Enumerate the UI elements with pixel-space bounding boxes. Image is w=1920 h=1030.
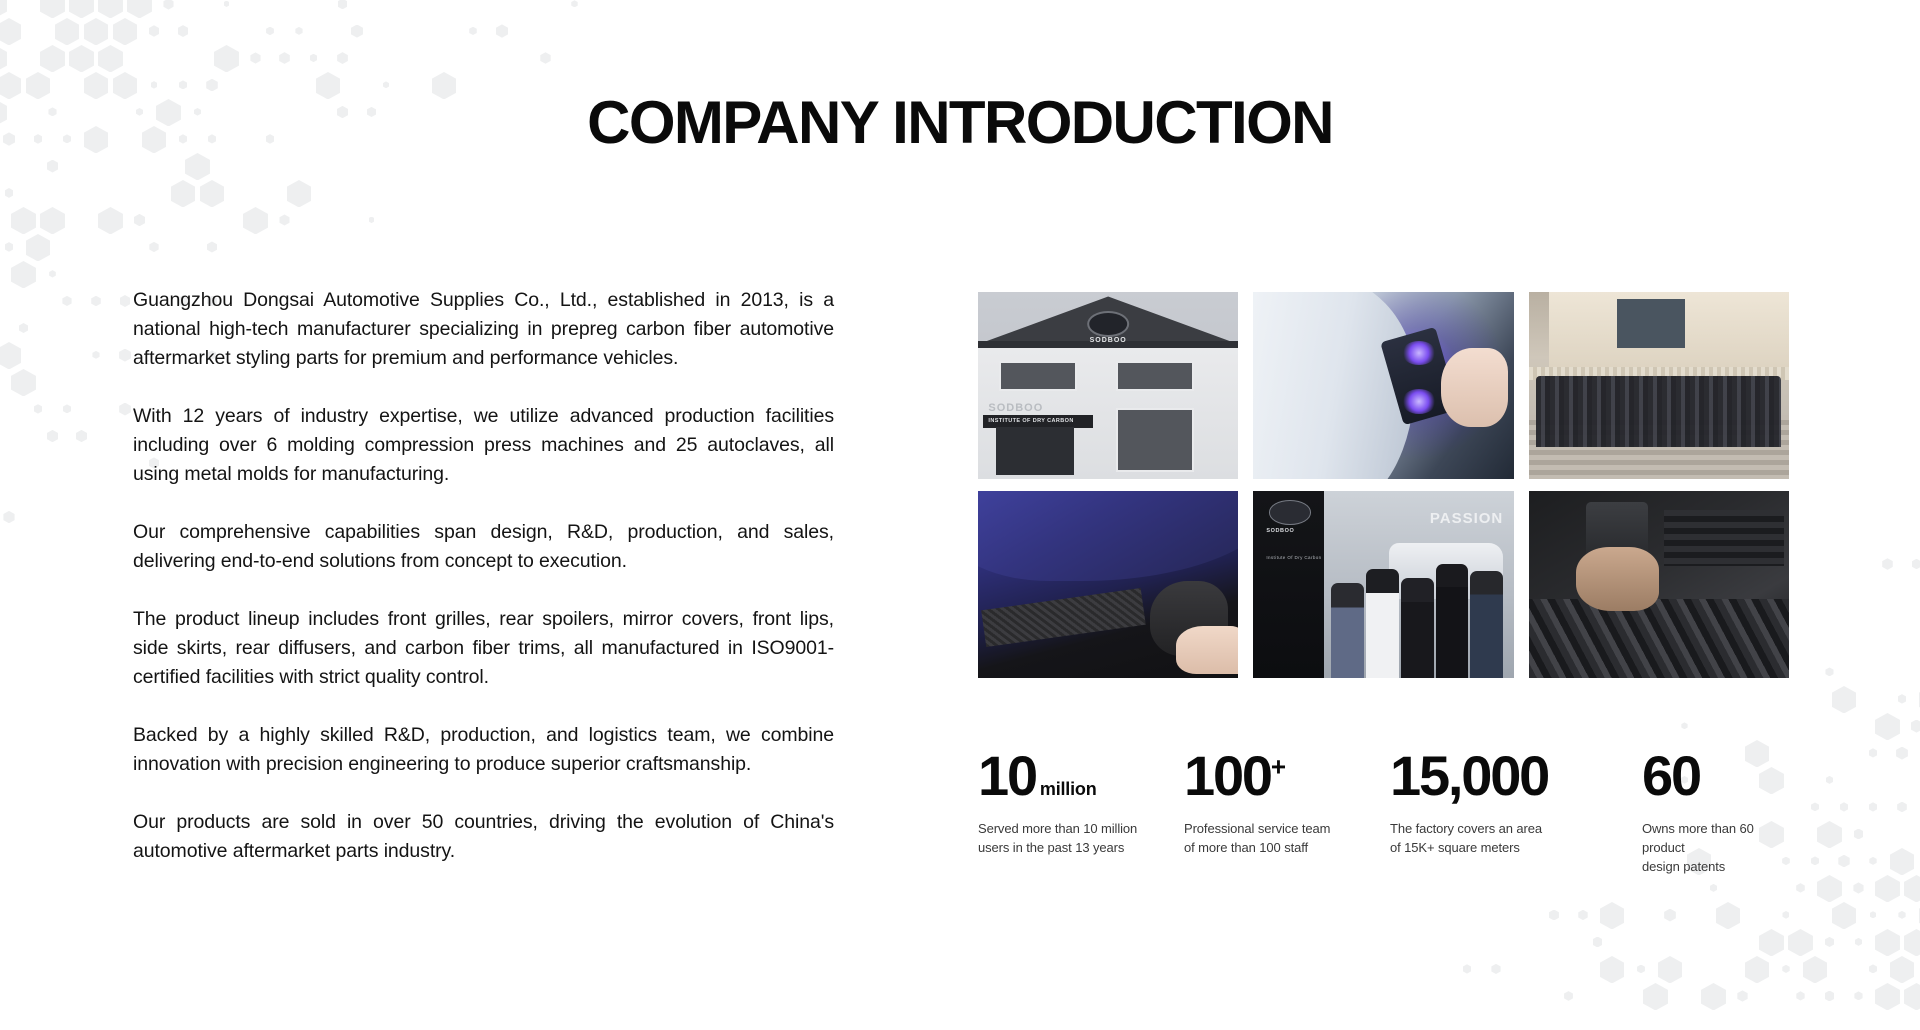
- hexagon-dot: [5, 242, 14, 252]
- hexagon-dot: [40, 207, 65, 234]
- description-paragraph: Our products are sold in over 50 countri…: [133, 808, 834, 866]
- brand-emblem-icon: [1269, 500, 1311, 524]
- hexagon-dot: [63, 404, 71, 413]
- building-window: [1116, 361, 1194, 391]
- hexagon-dot: [163, 0, 173, 10]
- hexagon-dot: [1904, 983, 1920, 1010]
- stat-number: 100+: [1184, 748, 1390, 804]
- stat-value: 15,000: [1390, 744, 1548, 807]
- hexagon-dot: [98, 45, 123, 72]
- hexagon-dot: [1825, 937, 1834, 947]
- wall-brand-text: SODBOO: [988, 402, 1043, 414]
- hexagon-dot: [40, 0, 65, 18]
- hexagon-dot: [1817, 875, 1842, 902]
- description-paragraph: Backed by a highly skilled R&D, producti…: [133, 721, 834, 779]
- hexagon-dot: [496, 24, 508, 37]
- hexagon-dot: [11, 207, 36, 234]
- statistics-row: 10millionServed more than 10 million use…: [978, 748, 1798, 876]
- carbon-weave-texture: [981, 588, 1146, 647]
- hexagon-dot: [287, 180, 312, 207]
- hexagon-dot: [1890, 956, 1915, 983]
- stat-unit: million: [1040, 779, 1097, 799]
- hexagon-dot: [92, 351, 99, 359]
- wall-word-passion: PASSION: [1430, 510, 1503, 527]
- banner-subtitle-text: Institute Of Dry Carbon: [1266, 555, 1321, 560]
- facade-window: [1617, 299, 1685, 348]
- hexagon-dot: [1904, 929, 1920, 956]
- hexagon-dot: [55, 18, 80, 45]
- tool-shelf: [1664, 510, 1784, 566]
- hexagon-dot: [1875, 875, 1900, 902]
- hexagon-dot: [351, 25, 363, 38]
- stat-caption: The factory covers an area of 15K+ squar…: [1390, 819, 1642, 857]
- hexagon-dot: [1745, 956, 1770, 983]
- hexagon-dot: [1578, 910, 1587, 920]
- staff-crowd: [1536, 376, 1781, 447]
- hexagon-dot: [1890, 848, 1915, 875]
- hexagon-dot: [200, 180, 225, 207]
- hexagon-dot: [1664, 909, 1676, 922]
- hexagon-dot: [113, 18, 138, 45]
- hexagon-dot: [98, 207, 123, 234]
- hexagon-dot: [1869, 748, 1877, 757]
- hexagon-dot: [0, 342, 21, 369]
- wall-subtitle-text: INSTITUTE OF DRY CARBON: [988, 418, 1073, 424]
- company-description: Guangzhou Dongsai Automotive Supplies Co…: [133, 286, 834, 866]
- description-paragraph: With 12 years of industry expertise, we …: [133, 402, 834, 489]
- stat-block: 100+Professional service team of more th…: [1184, 748, 1390, 876]
- hexagon-dot: [1869, 857, 1876, 865]
- hexagon-dot: [149, 25, 159, 36]
- stat-plus-sign: +: [1271, 751, 1286, 781]
- hexagon-dot: [1853, 882, 1863, 893]
- description-paragraph: Guangzhou Dongsai Automotive Supplies Co…: [133, 286, 834, 373]
- hexagon-dot: [571, 0, 577, 7]
- hexagon-dot: [1896, 747, 1908, 760]
- hexagon-dot: [0, 18, 21, 45]
- hexagon-dot: [119, 349, 131, 362]
- hexagon-dot: [26, 234, 51, 261]
- hexagon-dot: [1637, 965, 1645, 974]
- hexagon-dot: [338, 0, 348, 9]
- stat-caption: Owns more than 60 product design patents: [1642, 819, 1798, 876]
- description-paragraph: Our comprehensive capabilities span desi…: [133, 518, 834, 576]
- hexagon-dot: [243, 207, 268, 234]
- stat-block: 60Owns more than 60 product design paten…: [1642, 748, 1798, 876]
- hexagon-dot: [1710, 884, 1717, 892]
- hexagon-dot: [310, 54, 318, 62]
- hexagon-dot: [266, 27, 274, 36]
- hexagon-dot: [224, 1, 230, 7]
- team-member: [1470, 571, 1503, 678]
- hexagon-dot: [1788, 929, 1813, 956]
- gallery-photo-carbon-part[interactable]: [978, 491, 1238, 678]
- hexagon-dot: [1817, 821, 1842, 848]
- photo-gallery: SODBOO SODBOO INSTITUTE OF DRY CARBON PA…: [978, 292, 1789, 678]
- hexagon-dot: [1796, 883, 1805, 893]
- hexagon-dot: [250, 52, 260, 63]
- hexagon-dot: [1869, 802, 1877, 811]
- stat-number: 15,000: [1390, 748, 1642, 804]
- hexagon-dot: [1854, 991, 1862, 1000]
- gallery-photo-group-photo[interactable]: [1529, 292, 1789, 479]
- hexagon-dot: [1882, 558, 1893, 570]
- hexagon-dot: [1463, 964, 1471, 973]
- hexagon-dot: [1811, 802, 1819, 811]
- hexagon-dot: [1564, 991, 1573, 1001]
- hexagon-dot: [84, 18, 109, 45]
- team-member: [1436, 564, 1469, 678]
- hexagon-dot: [1869, 964, 1877, 973]
- hexagon-dot: [540, 52, 550, 63]
- hexagon-dot: [149, 242, 158, 252]
- hexagon-dot: [47, 160, 59, 173]
- hexagon-dot: [119, 403, 131, 416]
- hexagon-dot: [1898, 694, 1907, 704]
- hexagon-dot: [1491, 964, 1500, 974]
- hexagon-dot: [1593, 937, 1603, 948]
- hexagon-dot: [1716, 902, 1741, 929]
- hexagon-dot: [1826, 776, 1833, 784]
- gallery-photo-factory-building[interactable]: SODBOO SODBOO INSTITUTE OF DRY CARBON: [978, 292, 1238, 479]
- hexagon-dot: [1782, 965, 1789, 973]
- hexagon-dot: [369, 217, 375, 224]
- vehicle-body-blue: [978, 491, 1238, 581]
- hexagon-dot: [1832, 902, 1857, 929]
- hexagon-dot: [1832, 686, 1857, 713]
- hexagon-dot: [295, 27, 302, 35]
- team-member: [1366, 569, 1399, 678]
- hexagon-dot: [207, 241, 217, 252]
- brand-emblem-icon: [1087, 311, 1129, 337]
- hexagon-dot: [11, 261, 36, 288]
- hexagon-dot: [3, 511, 14, 523]
- stat-caption: Professional service team of more than 1…: [1184, 819, 1390, 857]
- hexagon-dot: [98, 0, 123, 18]
- hexagon-dot: [1840, 802, 1849, 811]
- hexagon-dot: [91, 296, 101, 307]
- building-entrance: [996, 427, 1074, 476]
- hexagon-dot: [1658, 956, 1683, 983]
- hexagon-dot: [1904, 875, 1920, 902]
- hand: [1441, 348, 1509, 427]
- hexagon-dot: [1681, 722, 1687, 729]
- hexagon-dot: [1870, 911, 1877, 918]
- hexagon-dot: [1600, 956, 1625, 983]
- page-title: COMPANY INTRODUCTION: [0, 88, 1920, 157]
- hexagon-dot: [1796, 991, 1804, 1000]
- hexagon-dot: [1549, 910, 1559, 921]
- hexagon-dot: [69, 45, 94, 72]
- hexagon-dot: [1912, 559, 1920, 570]
- hexagon-dot: [1875, 929, 1900, 956]
- hexagon-dot: [171, 180, 196, 207]
- description-paragraph: The product lineup includes front grille…: [133, 605, 834, 692]
- hexagon-dot: [1782, 911, 1789, 919]
- gallery-photo-showroom-team[interactable]: PASSION SODBOO Institute Of Dry Carbon: [1253, 491, 1513, 678]
- hexagon-dot: [279, 214, 289, 225]
- hexagon-dot: [127, 0, 152, 18]
- hexagon-dot: [1875, 983, 1900, 1010]
- stat-value: 10: [978, 744, 1036, 807]
- hexagon-dot: [1838, 855, 1849, 868]
- hexagon-dot: [1643, 983, 1668, 1010]
- hexagon-dot: [1600, 902, 1625, 929]
- uv-glow: [1402, 341, 1436, 365]
- stat-block: 10millionServed more than 10 million use…: [978, 748, 1184, 876]
- stat-number: 60: [1642, 748, 1798, 804]
- hexagon-dot: [279, 52, 290, 64]
- hexagon-dot: [1875, 713, 1900, 740]
- hexagon-dot: [1759, 929, 1784, 956]
- hexagon-dot: [62, 296, 71, 306]
- hexagon-dot: [76, 430, 87, 442]
- gallery-photo-assembly[interactable]: [1529, 491, 1789, 678]
- hexagon-dot: [0, 0, 7, 18]
- hexagon-dot: [214, 45, 239, 72]
- hexagon-dot: [1911, 720, 1920, 733]
- carbon-parts: [1529, 599, 1789, 678]
- stat-caption: Served more than 10 million users in the…: [978, 819, 1184, 857]
- hexagon-dot: [185, 153, 210, 180]
- hexagon-dot: [49, 270, 56, 277]
- hexagon-dot: [1811, 856, 1819, 865]
- uv-glow: [1402, 389, 1436, 413]
- team-member: [1401, 578, 1434, 678]
- forearm: [1176, 626, 1238, 675]
- stat-value: 100: [1184, 744, 1271, 807]
- stat-number: 10million: [978, 748, 1184, 804]
- stat-block: 15,000The factory covers an area of 15K+…: [1390, 748, 1642, 876]
- vehicle-panel: [1253, 292, 1414, 479]
- hexagon-dot: [1701, 983, 1726, 1010]
- hexagon-dot: [5, 188, 14, 198]
- hexagon-dot: [469, 27, 477, 35]
- hexagon-dot: [134, 214, 145, 226]
- hexagon-dot: [1854, 829, 1864, 840]
- hexagon-dot: [1897, 802, 1907, 813]
- hexagon-dot: [47, 430, 58, 442]
- hexagon-dot: [120, 295, 131, 307]
- hexagon-dot: [11, 369, 36, 396]
- hexagon-dot: [1855, 938, 1862, 946]
- stat-value: 60: [1642, 744, 1700, 807]
- hexagon-dot: [178, 25, 189, 37]
- building-window: [1116, 408, 1194, 472]
- hexagon-dot: [19, 323, 28, 333]
- gallery-photo-uv-inspection[interactable]: [1253, 292, 1513, 479]
- team-members: [1331, 562, 1503, 678]
- hexagon-dot: [69, 0, 94, 18]
- building-sign-text: SODBOO: [1090, 337, 1127, 344]
- hexagon-dot: [34, 404, 43, 413]
- hexagon-dot: [1803, 956, 1828, 983]
- hexagon-dot: [40, 45, 65, 72]
- hexagon-dot: [0, 45, 7, 72]
- hexagon-dot: [1825, 667, 1833, 676]
- team-member: [1331, 583, 1364, 678]
- hexagon-dot: [1898, 911, 1905, 919]
- banner-brand-text: SODBOO: [1266, 528, 1294, 534]
- hexagon-dot: [337, 52, 348, 64]
- hand: [1576, 547, 1659, 611]
- building-window: [999, 361, 1077, 391]
